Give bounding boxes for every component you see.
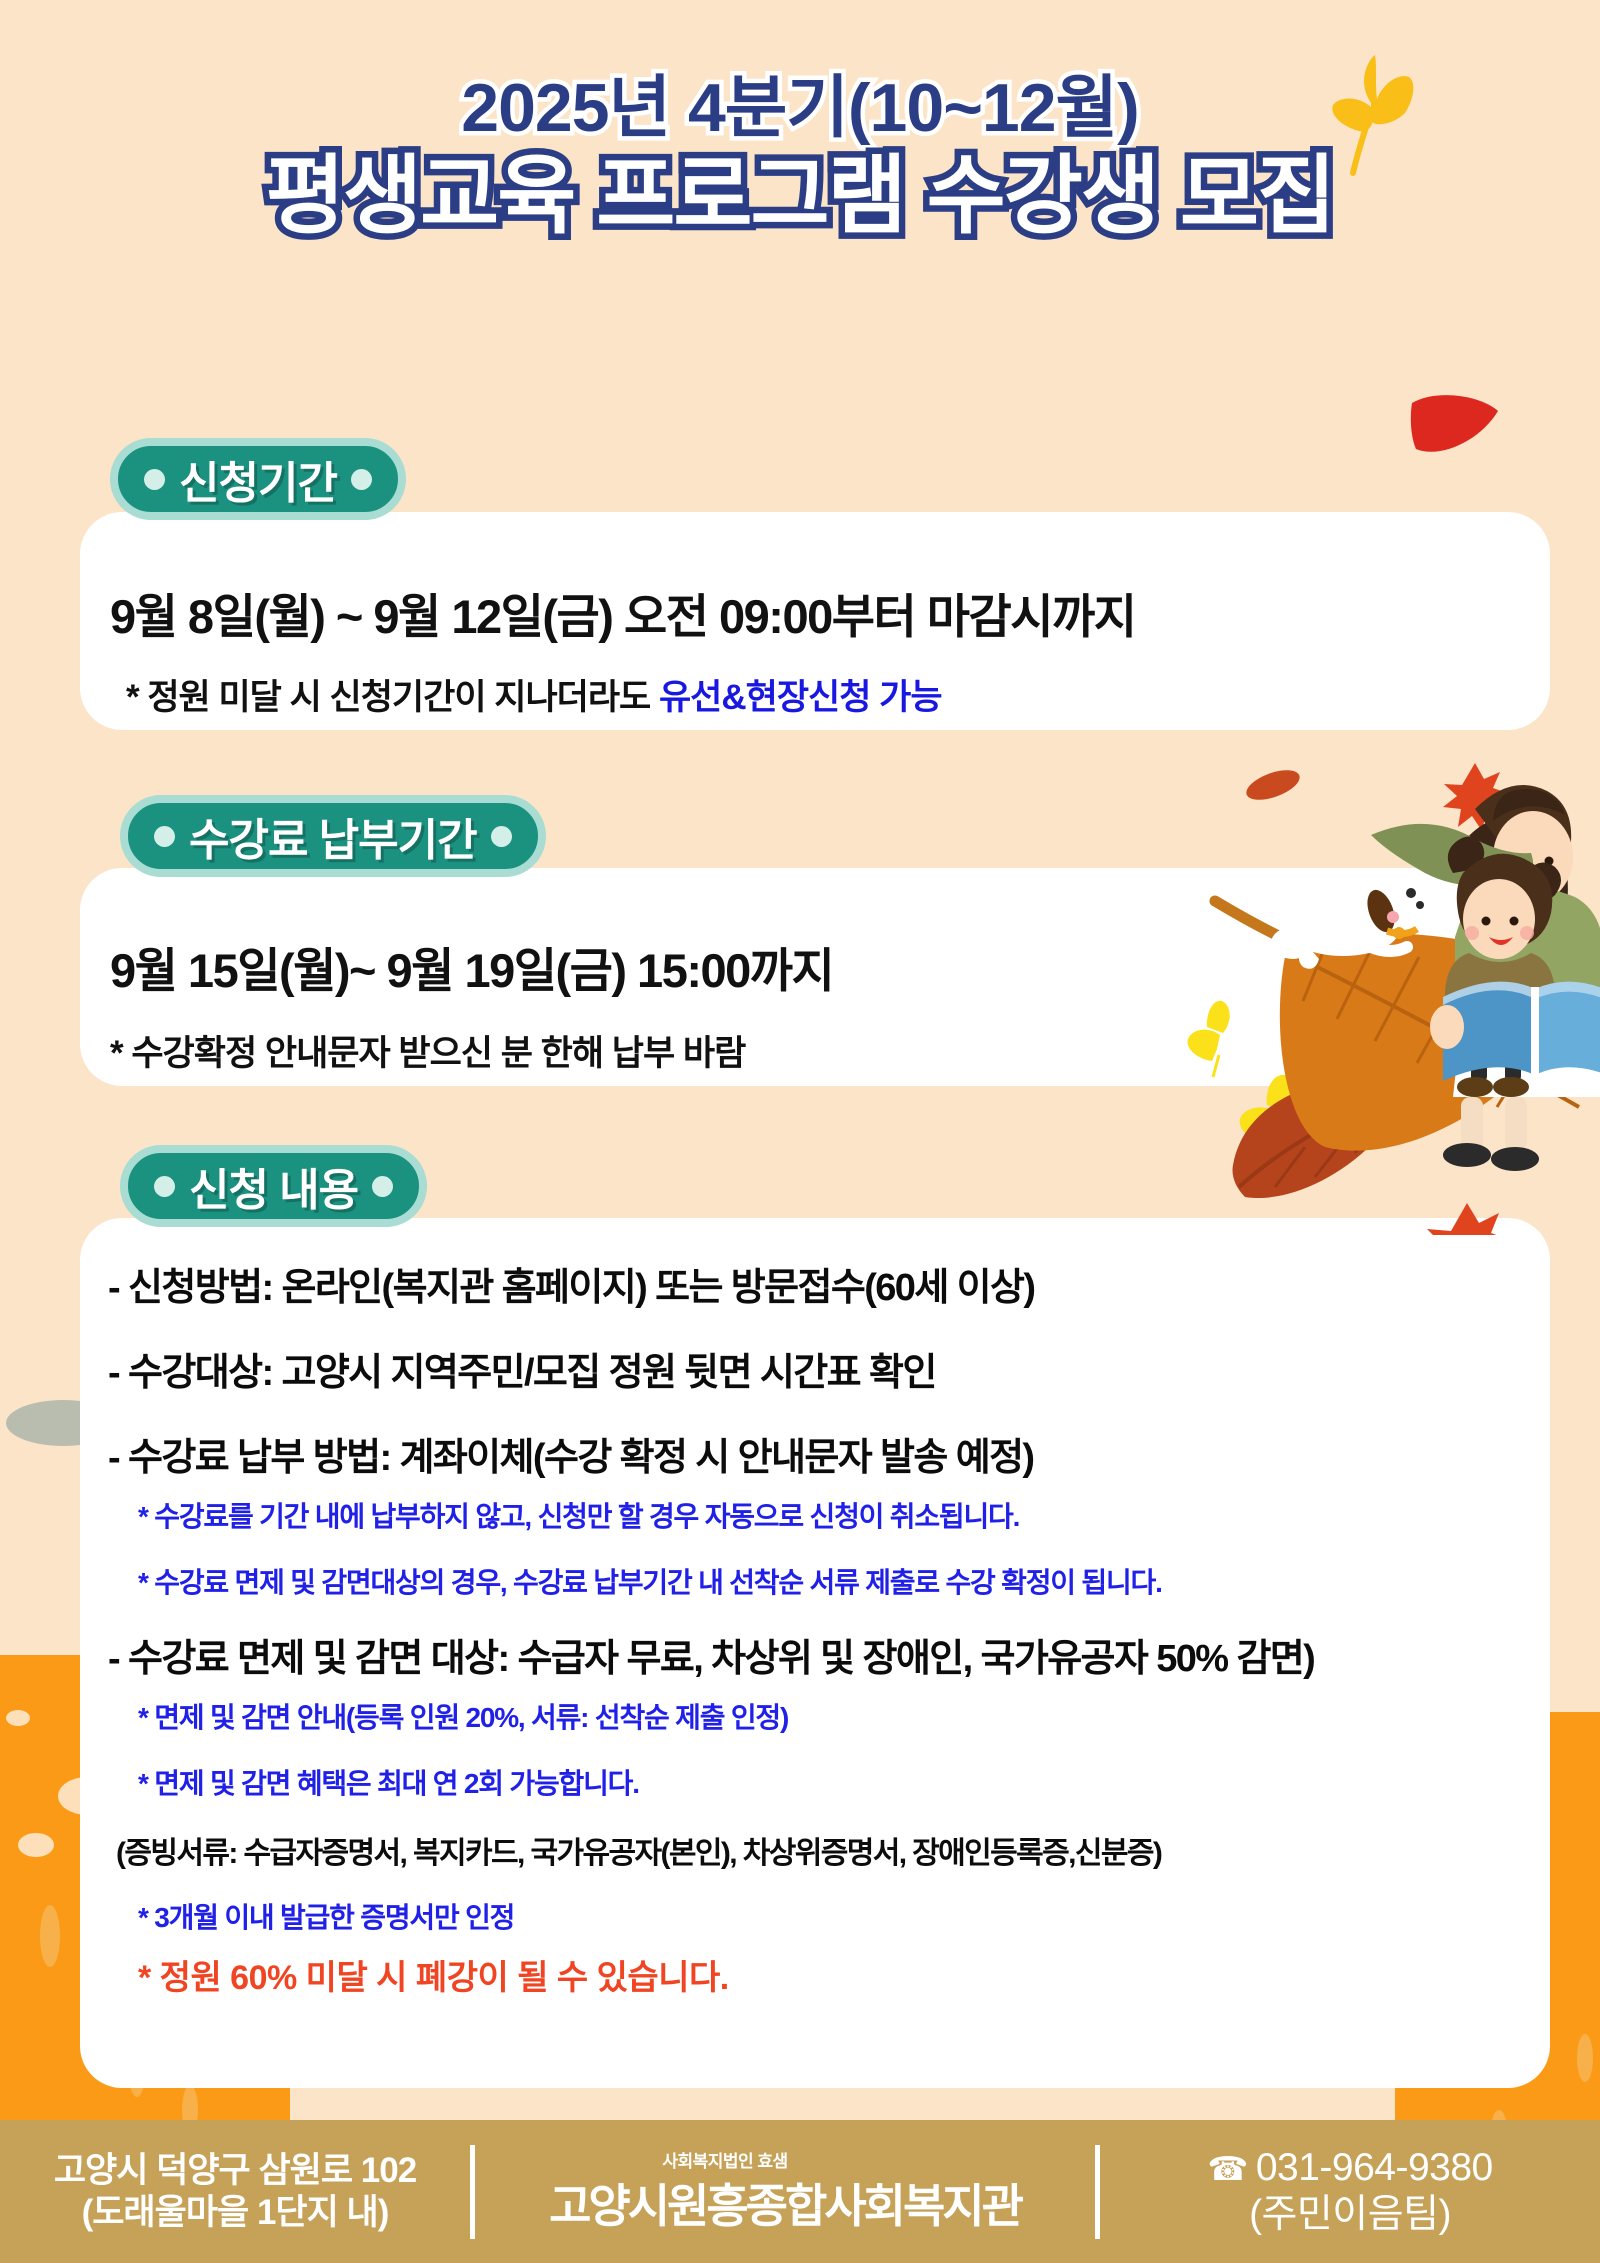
apply-note-prefix: * 정원 미달 시 신청기간이 지나더라도 (126, 678, 659, 717)
pill-dot-left (154, 1176, 175, 1197)
details-pill-label: 신청 내용 (189, 1154, 358, 1218)
apply-period-main: 9월 8일(월) ~ 9월 12일(금) 오전 09:00부터 마감시까지 (110, 578, 1135, 647)
detail-item: - 신청방법: 온라인(복지관 홈페이지) 또는 방문접수(60세 이상) (108, 1256, 1528, 1311)
telephone-icon: ☎ (1207, 2150, 1248, 2187)
pill-dot-left (144, 469, 165, 490)
apply-period-pill-label: 신청기간 (179, 447, 337, 511)
footer-phone-number: 031-964-9380 (1256, 2146, 1493, 2189)
detail-note: * 3개월 이내 발급한 증명서만 인정 (138, 1896, 1528, 1936)
poster-root: 2025년 4분기(10~12월) 평생교육 프로그램 수강생 모집 신청기간 … (0, 0, 1600, 2263)
apply-period-note: * 정원 미달 시 신청기간이 지나더라도 유선&현장신청 가능 (126, 669, 1135, 720)
detail-warning: * 정원 60% 미달 시 폐강이 될 수 있습니다. (138, 1950, 1528, 1999)
payment-period-pill-label: 수강료 납부기간 (189, 804, 477, 868)
pill-dot-right (372, 1176, 393, 1197)
pill-dot-right (491, 826, 512, 847)
footer-contact: ☎031-964-9380 (주민이음팀) (1100, 2145, 1600, 2239)
payment-period-main: 9월 15일(월)~ 9월 19일(금) 15:00까지 (110, 932, 833, 1001)
family-reading-illustration (1175, 735, 1600, 1235)
footer-address-line-2: (도래울마을 1단지 내) (0, 2192, 470, 2233)
detail-item: - 수강료 면제 및 감면 대상: 수급자 무료, 차상위 및 장애인, 국가유… (108, 1627, 1528, 1682)
red-leaf-icon (1410, 395, 1500, 457)
details-pill: 신청 내용 (120, 1145, 427, 1227)
detail-note: * 수강료 면제 및 감면대상의 경우, 수강료 납부기간 내 선착순 서류 제… (138, 1561, 1528, 1601)
detail-item: - 수강료 납부 방법: 계좌이체(수강 확정 시 안내문자 발송 예정) (108, 1426, 1528, 1481)
detail-note: * 수강료를 기간 내에 납부하지 않고, 신청만 할 경우 자동으로 신청이 … (138, 1495, 1528, 1535)
detail-note: * 면제 및 감면 혜택은 최대 연 2회 가능합니다. (138, 1762, 1528, 1802)
payment-period-body: 9월 15일(월)~ 9월 19일(금) 15:00까지 * 수강확정 안내문자… (110, 932, 833, 1076)
payment-period-note: * 수강확정 안내문자 받으신 분 한해 납부 바람 (110, 1025, 833, 1076)
footer-phone-row: ☎031-964-9380 (1100, 2145, 1600, 2192)
poster-title: 2025년 4분기(10~12월) 평생교육 프로그램 수강생 모집 (0, 72, 1600, 244)
details-body: - 신청방법: 온라인(복지관 홈페이지) 또는 방문접수(60세 이상) - … (108, 1256, 1528, 1999)
apply-period-pill: 신청기간 (110, 438, 406, 520)
footer-team-name: (주민이음팀) (1100, 2192, 1600, 2239)
footer-bar: 고양시 덕양구 삼원로 102 (도래울마을 1단지 내) 사회복지법인 효샘 … (0, 2120, 1600, 2263)
logo-superscript: 사회복지법인 효샘 (365, 2147, 1085, 2172)
logo-main-text: 고양시원흥종합사회복지관 (549, 2180, 1021, 2232)
pill-dot-left (154, 826, 175, 847)
detail-note: * 면제 및 감면 안내(등록 인원 20%, 서류: 선착순 제출 인정) (138, 1696, 1528, 1736)
detail-item: - 수강대상: 고양시 지역주민/모집 정원 뒷면 시간표 확인 (108, 1341, 1528, 1396)
detail-documents: (증빙서류: 수급자증명서, 복지카드, 국가유공자(본인), 차상위증명서, … (116, 1828, 1528, 1872)
payment-period-pill: 수강료 납부기간 (120, 795, 546, 877)
pill-dot-right (351, 469, 372, 490)
apply-note-highlight: 유선&현장신청 가능 (659, 678, 942, 717)
apply-period-body: 9월 8일(월) ~ 9월 12일(금) 오전 09:00부터 마감시까지 * … (110, 578, 1135, 720)
title-line-1: 2025년 4분기(10~12월) (0, 72, 1600, 144)
title-line-2: 평생교육 프로그램 수강생 모집 (0, 148, 1600, 244)
organization-logo: 사회복지법인 효샘 고양시원흥종합사회복지관 (475, 2147, 1095, 2236)
